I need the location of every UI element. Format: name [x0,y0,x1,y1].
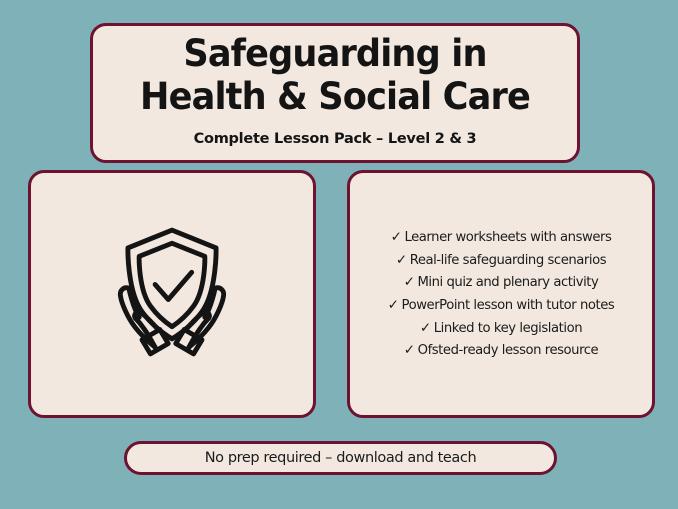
check-icon: ✓ [391,229,402,245]
features-card: ✓Learner worksheets with answers ✓Real-l… [347,170,655,418]
icon-card [28,170,316,418]
list-item: ✓PowerPoint lesson with tutor notes [356,294,646,317]
page-subtitle: Complete Lesson Pack – Level 2 & 3 [194,131,477,147]
list-item-label: Learner worksheets with answers [404,230,611,245]
list-item: ✓Learner worksheets with answers [356,226,646,249]
list-item-label: Real-life safeguarding scenarios [410,253,606,268]
title-card: Safeguarding in Health & Social Care Com… [90,23,580,163]
check-icon: ✓ [396,252,407,268]
check-icon: ✓ [404,342,415,358]
list-item: ✓Real-life safeguarding scenarios [356,249,646,272]
check-icon: ✓ [388,297,399,313]
page-title: Safeguarding in Health & Social Care [122,33,548,117]
list-item: ✓Ofsted-ready lesson resource [356,339,646,362]
poster-canvas: Safeguarding in Health & Social Care Com… [0,0,678,509]
list-item: ✓Linked to key legislation [356,317,646,340]
list-item-label: PowerPoint lesson with tutor notes [402,298,615,313]
feature-list: ✓Learner worksheets with answers ✓Real-l… [350,226,652,361]
list-item-label: Ofsted-ready lesson resource [418,343,599,358]
list-item: ✓Mini quiz and plenary activity [356,271,646,294]
check-icon: ✓ [404,274,415,290]
footer-banner: No prep required – download and teach [124,441,557,475]
list-item-label: Mini quiz and plenary activity [417,275,598,290]
check-icon: ✓ [420,320,431,336]
list-item-label: Linked to key legislation [434,321,582,336]
shield-check-in-hands-icon [97,217,247,367]
footer-banner-text: No prep required – download and teach [205,450,477,466]
